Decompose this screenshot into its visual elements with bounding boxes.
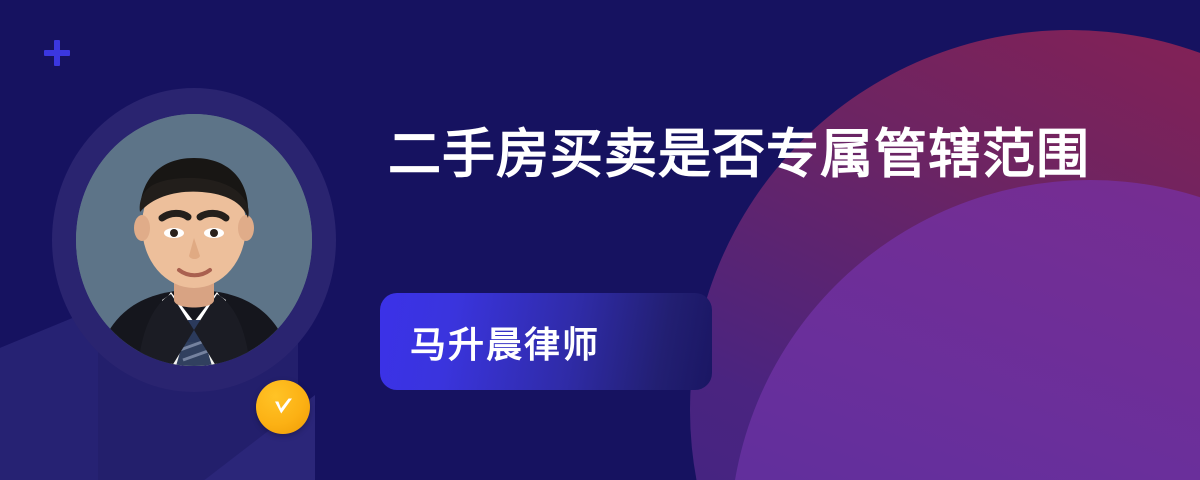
portrait-illustration — [76, 114, 312, 366]
avatar — [52, 88, 336, 392]
avatar-photo — [76, 114, 312, 366]
plus-icon — [44, 40, 70, 66]
verified-badge-icon — [256, 380, 310, 434]
page-title: 二手房买卖是否专属管辖范围 — [388, 118, 1168, 192]
lawyer-article-banner: 二手房买卖是否专属管辖范围 马升晨律师 — [0, 0, 1200, 480]
banner-content: 二手房买卖是否专属管辖范围 — [388, 118, 1168, 192]
lawyer-name-button[interactable]: 马升晨律师 — [380, 293, 712, 390]
